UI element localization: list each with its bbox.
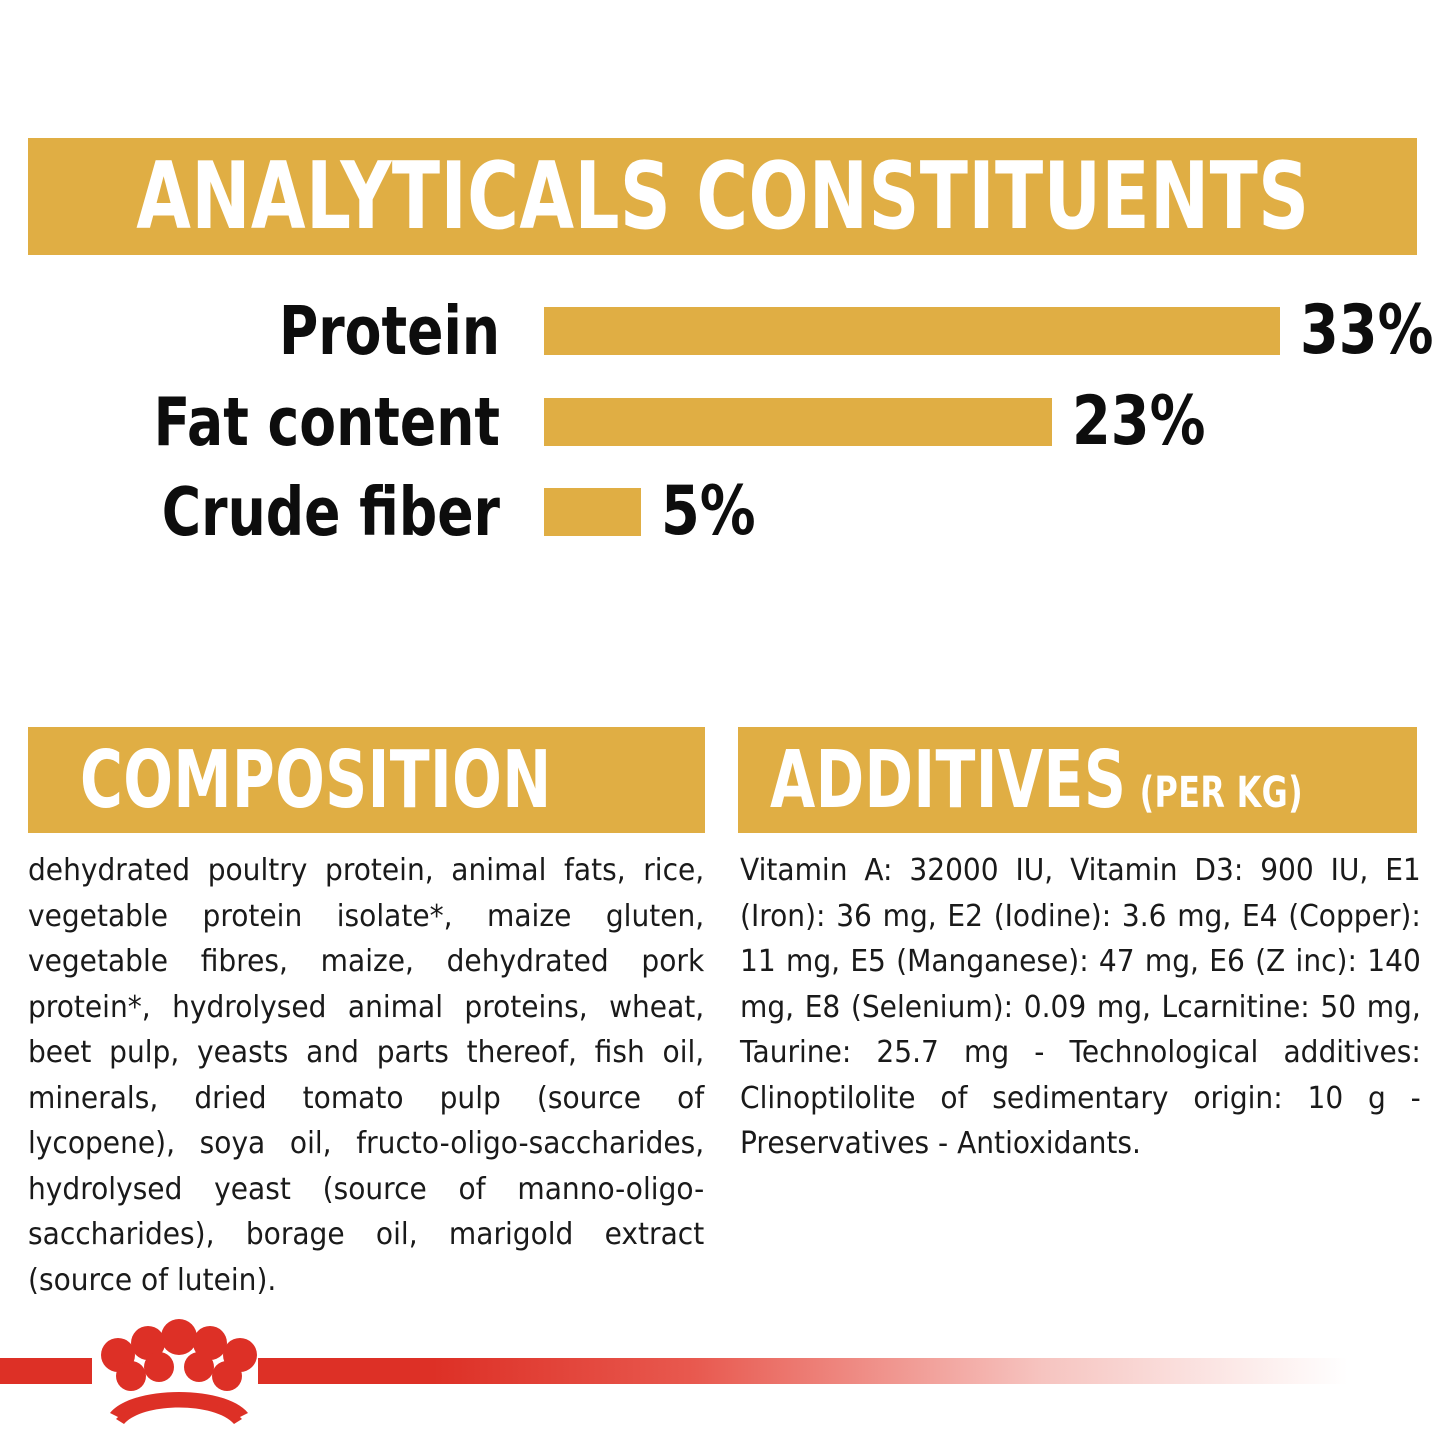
analyticals-constituents-header: ANALYTICALS CONSTITUENTS	[28, 138, 1417, 255]
nutrient-label-fat-content: Fat content	[148, 389, 500, 456]
composition-header: COMPOSITION	[28, 727, 705, 833]
footer-rule-right	[258, 1358, 1348, 1384]
nutrition-panel: ANALYTICALS CONSTITUENTS Protein 33% Fat…	[0, 0, 1445, 1445]
nutrient-label-protein: Protein	[148, 298, 500, 365]
nutrient-bar-group-protein: 33%	[544, 307, 1445, 355]
additives-title-group: ADDITIVES (per kg)	[770, 741, 1303, 820]
nutrient-label-crude-fiber: Crude fiber	[148, 479, 500, 546]
nutrient-value-crude-fiber: 5%	[661, 478, 756, 546]
composition-title: COMPOSITION	[80, 741, 551, 820]
nutrient-bar-group-crude-fiber: 5%	[544, 488, 776, 536]
nutrient-bar-group-fat-content: 23%	[544, 398, 1235, 446]
composition-body-text: dehydrated poultry protein, animal fats,…	[28, 848, 704, 1303]
additives-subtitle: (per kg)	[1140, 772, 1303, 815]
analyticals-bar-chart: Protein 33% Fat content 23% Crude fiber …	[0, 296, 1445, 552]
additives-title: ADDITIVES	[770, 741, 1126, 820]
nutrient-bar-protein	[544, 307, 1280, 355]
additives-body-text: Vitamin A: 32000 IU, Vitamin D3: 900 IU,…	[740, 848, 1421, 1167]
nutrient-value-protein: 33%	[1300, 297, 1433, 365]
additives-header: ADDITIVES (per kg)	[738, 727, 1417, 833]
nutrient-row-protein: Protein 33%	[0, 296, 1445, 366]
nutrient-bar-crude-fiber	[544, 488, 641, 536]
nutrient-bar-fat-content	[544, 398, 1052, 446]
analyticals-constituents-title: ANALYTICALS CONSTITUENTS	[136, 150, 1309, 243]
nutrient-row-fat-content: Fat content 23%	[0, 387, 1445, 457]
footer-rule-left	[0, 1358, 92, 1384]
nutrient-row-crude-fiber: Crude fiber 5%	[0, 477, 1445, 547]
royal-canin-crown-logo	[98, 1312, 260, 1424]
nutrient-value-fat-content: 23%	[1072, 388, 1205, 456]
footer	[0, 1300, 1445, 1445]
